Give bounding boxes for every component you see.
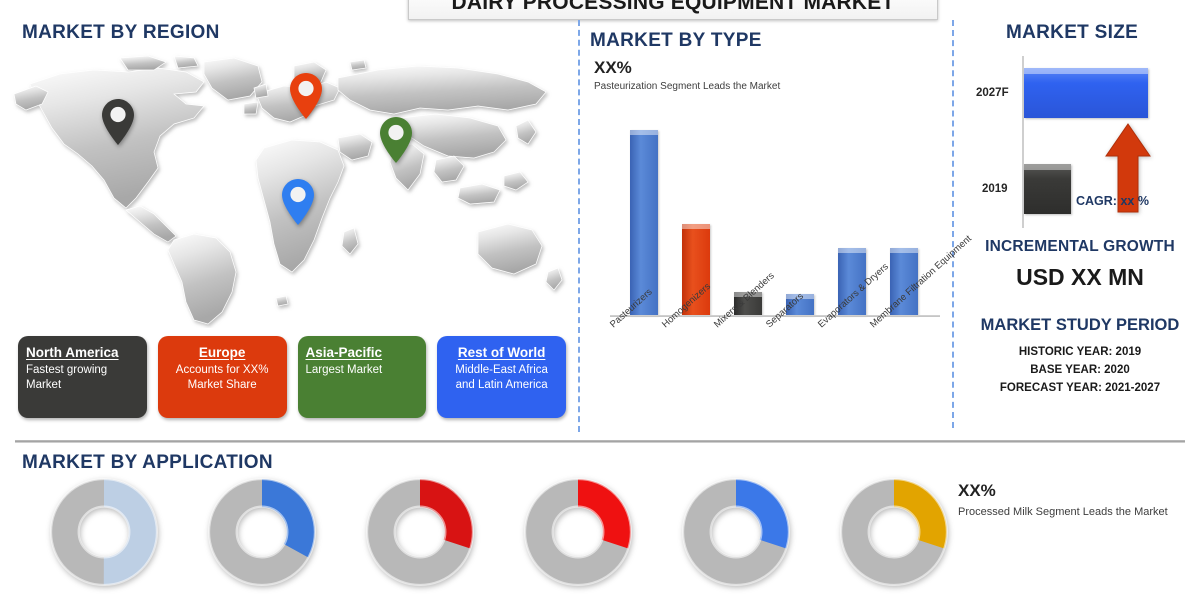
donut-chart-1 bbox=[50, 478, 158, 586]
type-value: XX% bbox=[594, 58, 632, 78]
donut-chart-6 bbox=[840, 478, 948, 586]
region-card-europe[interactable]: Europe Accounts for XX% Market Share bbox=[158, 336, 287, 418]
donut-chart-5 bbox=[682, 478, 790, 586]
donut-chart-4 bbox=[524, 478, 632, 586]
period-historic-year: HISTORIC YEAR: 2019 bbox=[960, 344, 1200, 362]
section-title-application: MARKET BY APPLICATION bbox=[22, 452, 273, 474]
region-card-asia-pacific[interactable]: Asia-Pacific Largest Market bbox=[298, 336, 427, 418]
region-card-desc: Largest Market bbox=[306, 363, 419, 378]
donut-chart-2 bbox=[208, 478, 316, 586]
market-by-type-panel: XX% Pasteurization Segment Leads the Mar… bbox=[586, 28, 946, 428]
region-card-rest-of-world[interactable]: Rest of World Middle-East Africa and Lat… bbox=[437, 336, 566, 418]
application-subtitle: Processed Milk Segment Leads the Market bbox=[958, 505, 1183, 521]
bar-cap bbox=[838, 248, 866, 253]
page-title: DAIRY PROCESSING EQUIPMENT MARKET bbox=[452, 0, 895, 15]
size-label-2019: 2019 bbox=[982, 183, 1008, 195]
type-subtitle: Pasteurization Segment Leads the Market bbox=[594, 81, 780, 92]
region-cards: North America Fastest growing Market Eur… bbox=[18, 336, 566, 418]
region-card-desc: Accounts for XX% Market Share bbox=[166, 363, 279, 393]
divider-left bbox=[578, 20, 580, 432]
region-card-name: North America bbox=[26, 345, 139, 360]
size-label-2027f: 2027F bbox=[976, 87, 1009, 99]
region-card-desc: Fastest growing Market bbox=[26, 363, 139, 393]
application-donut-row bbox=[40, 478, 940, 588]
type-bar-chart bbox=[618, 103, 938, 315]
section-title-region: MARKET BY REGION bbox=[22, 22, 220, 44]
north-america-pin bbox=[100, 98, 136, 146]
region-card-desc: Middle-East Africa and Latin America bbox=[445, 363, 558, 393]
size-bar-2027f bbox=[1024, 68, 1148, 118]
divider-horizontal bbox=[15, 440, 1185, 443]
application-value: XX% bbox=[958, 481, 996, 501]
period-forecast-year: FORECAST YEAR: 2021-2027 bbox=[960, 380, 1200, 398]
donut-chart-3 bbox=[366, 478, 474, 586]
bar-cap bbox=[1024, 164, 1071, 170]
size-bar-2019 bbox=[1024, 164, 1071, 214]
incremental-growth-header: INCREMENTAL GROWTH bbox=[960, 238, 1200, 256]
infographic-title-bar: DAIRY PROCESSING EQUIPMENT MARKET bbox=[408, 0, 938, 20]
bar-cap bbox=[682, 224, 710, 229]
bar-cap bbox=[630, 130, 658, 135]
europe-pin bbox=[288, 72, 324, 120]
incremental-growth-value: USD XX MN bbox=[960, 264, 1200, 291]
period-base-year: BASE YEAR: 2020 bbox=[960, 362, 1200, 380]
market-study-period-header: MARKET STUDY PERIOD bbox=[960, 316, 1200, 335]
divider-right bbox=[952, 20, 954, 428]
bar-pasteurizers bbox=[630, 130, 658, 315]
cagr-label: CAGR: xx % bbox=[1076, 194, 1149, 208]
rest-of-world-pin bbox=[280, 178, 316, 226]
market-size-panel: 2027F 2019 CAGR: xx % INCREMENTAL GROWTH… bbox=[960, 16, 1200, 428]
bar-cap bbox=[1024, 68, 1148, 74]
region-card-name: Rest of World bbox=[445, 345, 558, 360]
asia-pacific-pin bbox=[378, 116, 414, 164]
bar-cap bbox=[890, 248, 918, 253]
region-card-north-america[interactable]: North America Fastest growing Market bbox=[18, 336, 147, 418]
region-card-name: Europe bbox=[166, 345, 279, 360]
region-card-name: Asia-Pacific bbox=[306, 345, 419, 360]
